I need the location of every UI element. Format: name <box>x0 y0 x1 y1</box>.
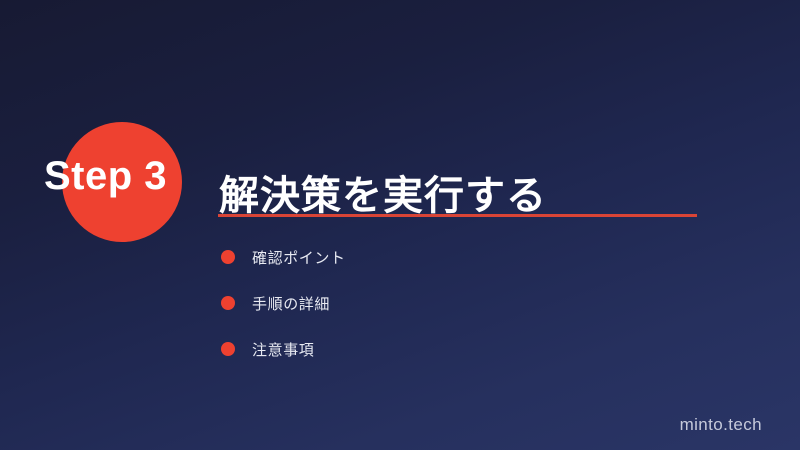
bullet-dot-icon <box>221 296 235 310</box>
list-item-label: 確認ポイント <box>252 247 346 268</box>
slide-canvas: Step 3 解決策を実行する 確認ポイント 手順の詳細 注意事項 minto.… <box>0 0 800 450</box>
list-item-label: 注意事項 <box>252 339 314 360</box>
title-divider <box>218 214 697 217</box>
bullet-dot-icon <box>221 250 235 264</box>
step-label: Step 3 <box>44 153 167 199</box>
list-item: 確認ポイント <box>221 234 681 280</box>
list-item-label: 手順の詳細 <box>252 293 330 314</box>
footer-brand: minto.tech <box>680 415 762 435</box>
bullet-dot-icon <box>221 342 235 356</box>
list-item: 注意事項 <box>221 326 681 372</box>
bullet-list: 確認ポイント 手順の詳細 注意事項 <box>221 234 681 372</box>
list-item: 手順の詳細 <box>221 280 681 326</box>
